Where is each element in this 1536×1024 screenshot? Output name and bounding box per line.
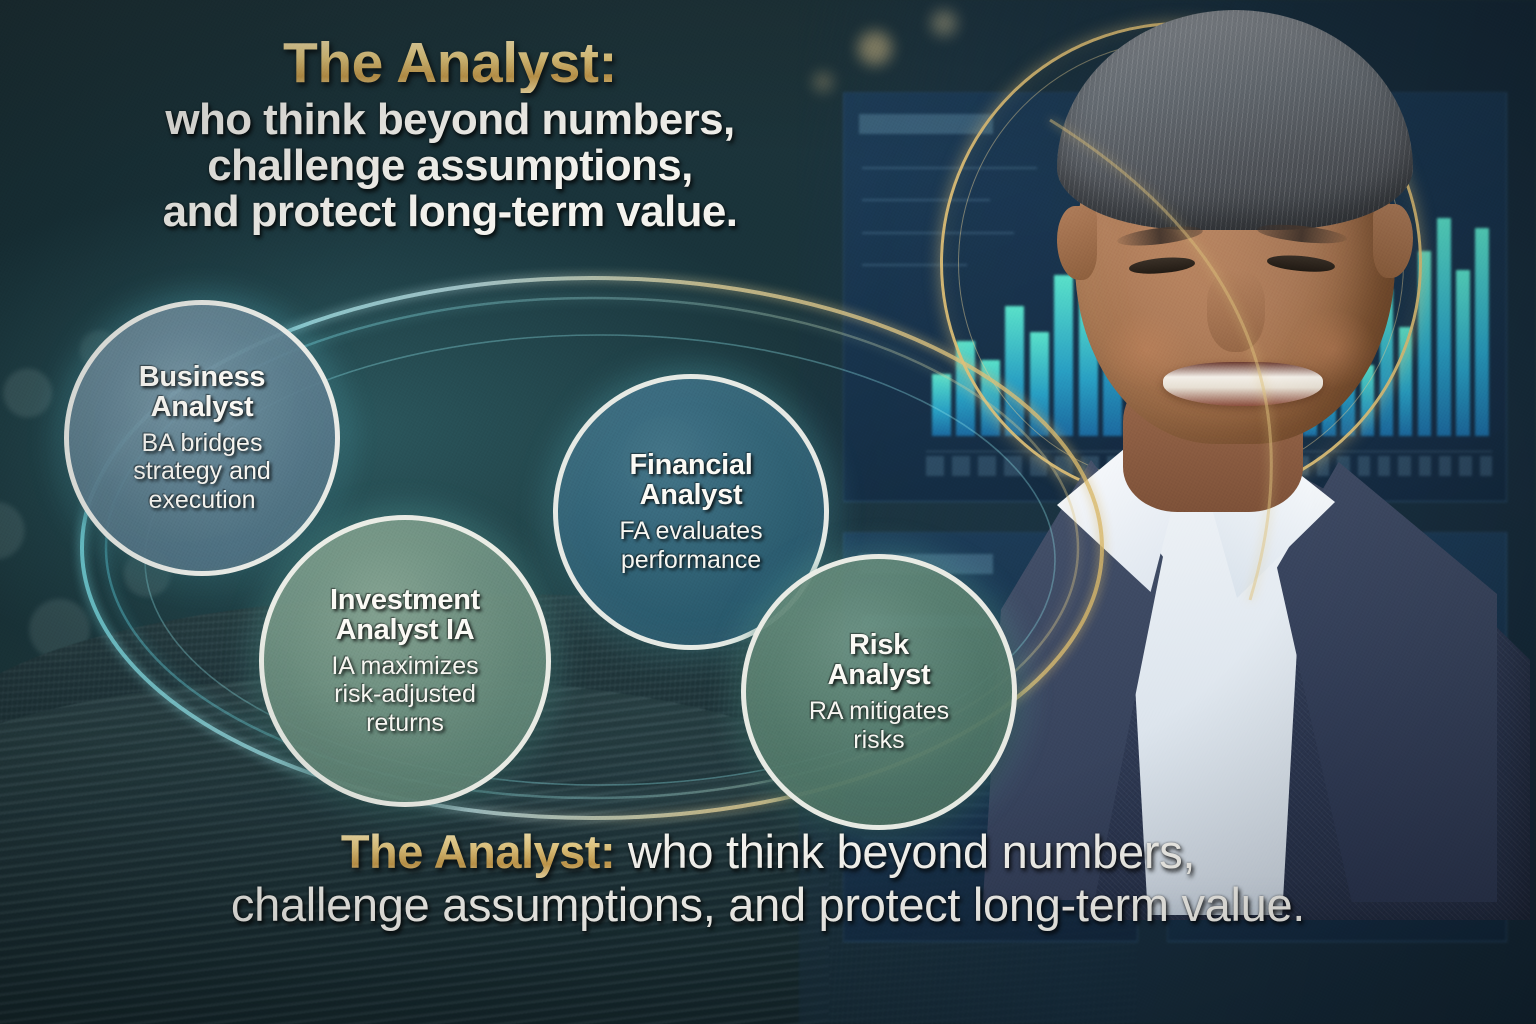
infographic-canvas: The Analyst: who think beyond numbers, c… bbox=[0, 0, 1536, 1024]
film-grain-overlay bbox=[0, 0, 1536, 1024]
